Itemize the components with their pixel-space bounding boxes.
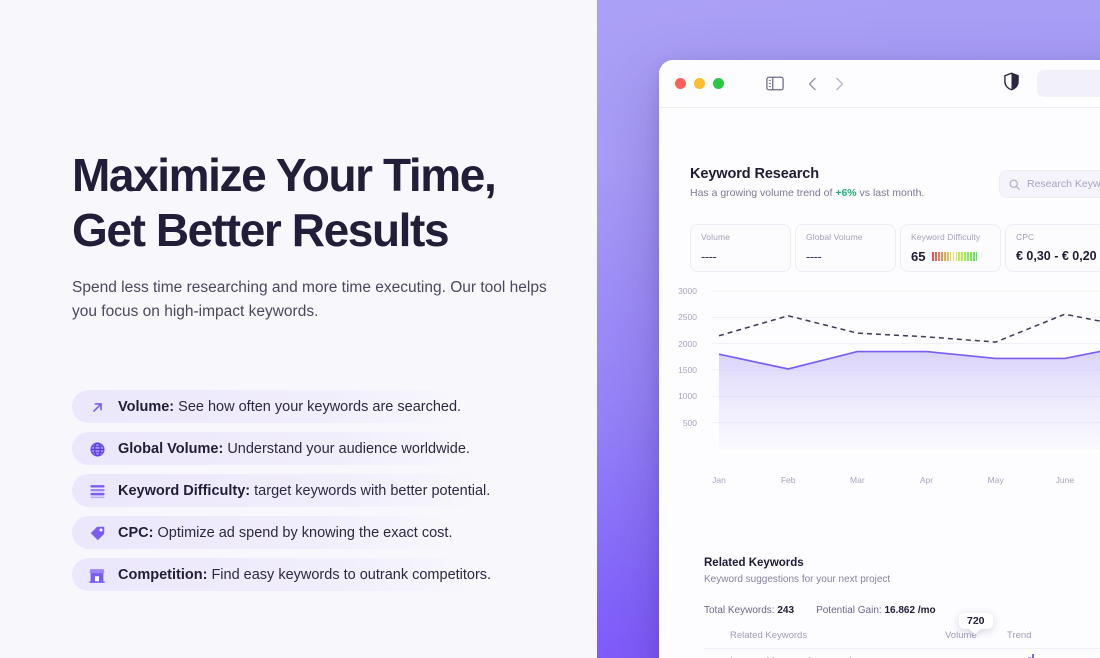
shield-icon[interactable] bbox=[1004, 72, 1019, 95]
difficulty-bar bbox=[935, 252, 937, 261]
list-item: Volume: See how often your keywords are … bbox=[72, 386, 572, 428]
feature-desc: Find easy keywords to outrank competitor… bbox=[211, 567, 491, 583]
traffic-lights bbox=[675, 78, 724, 89]
x-axis-tick: June bbox=[1045, 475, 1085, 485]
window-titlebar bbox=[659, 60, 1100, 108]
related-keywords-table: Related Keywords Volume Trend CPC +keywo… bbox=[704, 630, 1100, 658]
feature-desc: Optimize ad spend by knowing the exact c… bbox=[157, 525, 452, 541]
difficulty-bar bbox=[932, 252, 934, 261]
stat-value: ---- bbox=[701, 249, 716, 264]
close-icon[interactable] bbox=[675, 78, 686, 89]
feature-desc: target keywords with better potential. bbox=[254, 483, 490, 499]
stat-card-cpc: CPC € 0,30 - € 0,20 bbox=[1005, 224, 1100, 272]
x-axis-tick: Apr bbox=[907, 475, 947, 485]
related-keywords-title: Related Keywords bbox=[704, 557, 804, 569]
column-cpc: CPC bbox=[1092, 630, 1100, 641]
feature-list: Volume: See how often your keywords are … bbox=[72, 386, 572, 596]
related-keywords-subtitle: Keyword suggestions for your next projec… bbox=[704, 574, 890, 585]
table-header: Related Keywords Volume Trend CPC bbox=[704, 630, 1100, 649]
difficulty-bar bbox=[967, 252, 969, 261]
stat-value: € 0,30 - € 0,20 bbox=[1016, 249, 1097, 263]
stat-cards: Volume ---- Global Volume ---- Keyword D… bbox=[690, 224, 1100, 272]
subtitle-post: vs last month. bbox=[857, 187, 925, 199]
difficulty-bar bbox=[938, 252, 940, 261]
column-keyword: Related Keywords bbox=[730, 630, 945, 641]
minimize-icon[interactable] bbox=[694, 78, 705, 89]
trend-tooltip: 720 bbox=[959, 613, 993, 629]
total-keywords: Total Keywords: 243 bbox=[704, 605, 794, 616]
related-keywords-meta: Total Keywords: 243 Potential Gain: 16.8… bbox=[704, 605, 936, 616]
feature-text: Volume: See how often your keywords are … bbox=[118, 399, 461, 415]
trend-percentage: +6% bbox=[835, 187, 856, 199]
stat-label: Keyword Difficulty bbox=[911, 232, 990, 242]
feature-term: Keyword Difficulty: bbox=[118, 483, 250, 499]
feature-text: Keyword Difficulty: target keywords with… bbox=[118, 483, 490, 499]
list-item: Global Volume: Understand your audience … bbox=[72, 428, 572, 470]
subtitle-pre: Has a growing volume trend of bbox=[690, 187, 835, 199]
feature-desc: See how often your keywords are searched… bbox=[178, 399, 461, 415]
difficulty-bar bbox=[947, 252, 949, 261]
difficulty-bar bbox=[956, 252, 958, 261]
y-axis-tick: 2500 bbox=[671, 312, 697, 322]
feature-desc: Understand your audience worldwide. bbox=[227, 441, 470, 457]
feature-term: Global Volume: bbox=[118, 441, 223, 457]
storefront-icon bbox=[86, 564, 108, 586]
marketing-panel: Maximize Your Time, Get Better Results S… bbox=[0, 0, 597, 658]
x-axis-tick: Jan bbox=[699, 475, 739, 485]
expand-row-icon[interactable]: + bbox=[704, 655, 730, 658]
x-axis-tick: Mar bbox=[837, 475, 877, 485]
feature-term: Competition: bbox=[118, 567, 207, 583]
feature-text: CPC: Optimize ad spend by knowing the ex… bbox=[118, 525, 452, 541]
headline-line-2: Get Better Results bbox=[72, 203, 572, 258]
stat-value: ---- bbox=[806, 249, 821, 264]
feature-text: Competition: Find easy keywords to outra… bbox=[118, 567, 491, 583]
feature-text: Global Volume: Understand your audience … bbox=[118, 441, 470, 457]
x-axis-tick: Feb bbox=[768, 475, 808, 485]
potential-gain-value: 16.862 /mo bbox=[884, 605, 935, 616]
difficulty-bar bbox=[950, 252, 952, 261]
search-input[interactable]: Research Keyword... bbox=[999, 170, 1100, 198]
difficulty-bar bbox=[961, 252, 963, 261]
potential-gain: Potential Gain: 16.862 /mo bbox=[816, 605, 936, 616]
total-keywords-value: 243 bbox=[777, 605, 794, 616]
stat-card-global-volume: Global Volume ---- bbox=[795, 224, 896, 272]
hero-subtext: Spend less time researching and more tim… bbox=[72, 276, 547, 324]
search-placeholder: Research Keyword... bbox=[1027, 178, 1100, 190]
list-item: CPC: Optimize ad spend by knowing the ex… bbox=[72, 512, 572, 554]
difficulty-meter bbox=[932, 252, 977, 261]
app-content: Keyword Research Has a growing volume tr… bbox=[659, 108, 1100, 658]
y-axis-tick: 1000 bbox=[671, 391, 697, 401]
potential-gain-label: Potential Gain: bbox=[816, 605, 882, 616]
list-item: Competition: Find easy keywords to outra… bbox=[72, 554, 572, 596]
y-axis-tick: 3000 bbox=[671, 286, 697, 296]
list-item: Keyword Difficulty: target keywords with… bbox=[72, 470, 572, 512]
feature-term: CPC: bbox=[118, 525, 153, 541]
page-title: Maximize Your Time, Get Better Results bbox=[72, 148, 572, 258]
difficulty-bar bbox=[944, 252, 946, 261]
column-trend: Trend bbox=[1007, 630, 1092, 641]
x-axis-tick: May bbox=[976, 475, 1016, 485]
headline-line-1: Maximize Your Time, bbox=[72, 148, 572, 203]
total-keywords-label: Total Keywords: bbox=[704, 605, 775, 616]
stat-label: Volume bbox=[701, 232, 780, 242]
difficulty-bar bbox=[964, 252, 966, 261]
volume-trend-chart: 50010001500200025003000 JanFebMarAprMayJ… bbox=[671, 283, 1100, 493]
stat-label: CPC bbox=[1016, 232, 1095, 242]
difficulty-bar bbox=[970, 252, 972, 261]
search-icon bbox=[1009, 179, 1020, 190]
maximize-icon[interactable] bbox=[713, 78, 724, 89]
difficulty-bar bbox=[953, 252, 955, 261]
feature-term: Volume: bbox=[118, 399, 174, 415]
difficulty-bar bbox=[941, 252, 943, 261]
y-axis-tick: 2000 bbox=[671, 339, 697, 349]
globe-icon bbox=[86, 438, 108, 460]
stat-label: Global Volume bbox=[806, 232, 885, 242]
app-window: Keyword Research Has a growing volume tr… bbox=[659, 60, 1100, 658]
chart-canvas bbox=[671, 283, 1100, 473]
stat-card-volume: Volume ---- bbox=[690, 224, 791, 272]
difficulty-bar bbox=[973, 252, 975, 261]
sparkline-bar bbox=[1032, 654, 1034, 658]
tag-icon bbox=[86, 522, 108, 544]
keyword-research-subtitle: Has a growing volume trend of +6% vs las… bbox=[690, 187, 924, 199]
difficulty-bar bbox=[976, 252, 978, 261]
address-bar[interactable] bbox=[1037, 70, 1100, 97]
y-axis-tick: 500 bbox=[671, 418, 697, 428]
bars-icon bbox=[86, 480, 108, 502]
y-axis-tick: 1500 bbox=[671, 365, 697, 375]
trend-arrow-icon bbox=[86, 396, 108, 418]
difficulty-bar bbox=[958, 252, 960, 261]
table-row[interactable]: +keyword keyword research720€ 2,28 bbox=[704, 649, 1100, 658]
table-body: +keyword keyword research720€ 2,28+keywo… bbox=[704, 649, 1100, 658]
trend-sparkline bbox=[1007, 654, 1092, 658]
sidebar-toggle-icon[interactable] bbox=[766, 76, 784, 91]
back-chevron-icon[interactable] bbox=[806, 76, 819, 92]
forward-chevron-icon[interactable] bbox=[833, 76, 846, 92]
keyword-research-title: Keyword Research bbox=[690, 166, 819, 182]
stat-value: 65 bbox=[911, 249, 925, 264]
stat-card-keyword-difficulty: Keyword Difficulty 65 bbox=[900, 224, 1001, 272]
